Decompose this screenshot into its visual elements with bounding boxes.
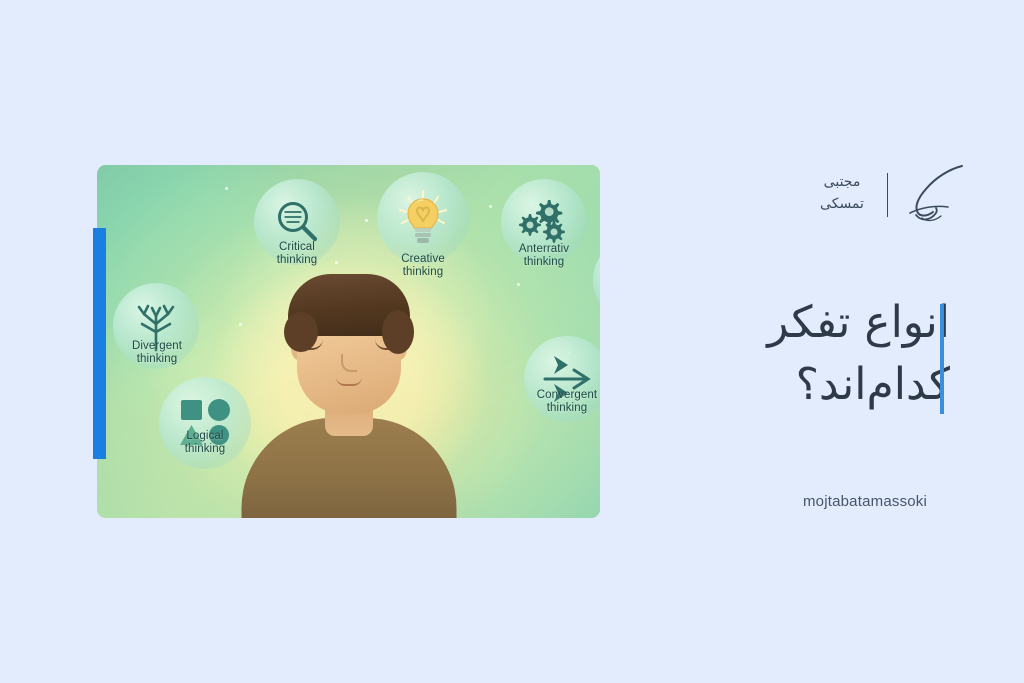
sparkle-dot — [517, 283, 520, 286]
bubble-label-strategic: Strategic thinking — [575, 305, 600, 331]
gears-icon — [517, 198, 571, 246]
sparkle-dot — [225, 187, 228, 190]
page-root: Critical thinking — [0, 0, 1024, 683]
headline-line-1: انواع تفکر — [650, 292, 950, 354]
bubble-creative-thinking — [377, 172, 469, 264]
illustration-panel: Critical thinking — [97, 165, 600, 518]
calligraphic-pen-mark-icon — [892, 163, 968, 229]
brand-logo-divider — [887, 173, 888, 217]
brand-logo-wordmark: مجتبی تمسکی — [802, 171, 882, 215]
brand-logo[interactable]: مجتبی تمسکی — [802, 163, 968, 235]
bubble-label-creative: Creative thinking — [359, 253, 487, 279]
bubble-label-intuitive: Intuitive thinking — [593, 445, 600, 471]
accent-bar-right — [940, 304, 944, 414]
bubble-label-critical: Critical thinking — [237, 241, 357, 267]
meditating-person-figure — [239, 268, 459, 518]
sparkle-dot — [489, 205, 492, 208]
bubble-label-alternative: Anterrativ thinking — [483, 243, 600, 269]
bubble-label-divergent: Divergent thinking — [97, 340, 217, 366]
figure-hair — [288, 274, 410, 336]
lightbulb-icon — [395, 189, 451, 247]
illustration-card: Critical thinking — [97, 165, 600, 518]
brand-logo-line-2: تمسکی — [802, 193, 882, 215]
bubble-label-logical: Logical thinking — [143, 430, 267, 456]
brand-logo-line-1: مجتبی — [802, 171, 882, 193]
figure-nose — [341, 354, 357, 372]
magnifier-icon — [272, 197, 322, 247]
headline-line-2: کدام‌اند؟ — [650, 354, 950, 416]
page-headline: انواع تفکر کدام‌اند؟ — [650, 292, 950, 416]
bubble-label-convergent: Convergent thinking — [505, 389, 600, 415]
accent-bar-left — [93, 228, 106, 459]
author-handle: mojtabatamassoki — [700, 493, 1024, 510]
sparkle-dot — [365, 219, 368, 222]
